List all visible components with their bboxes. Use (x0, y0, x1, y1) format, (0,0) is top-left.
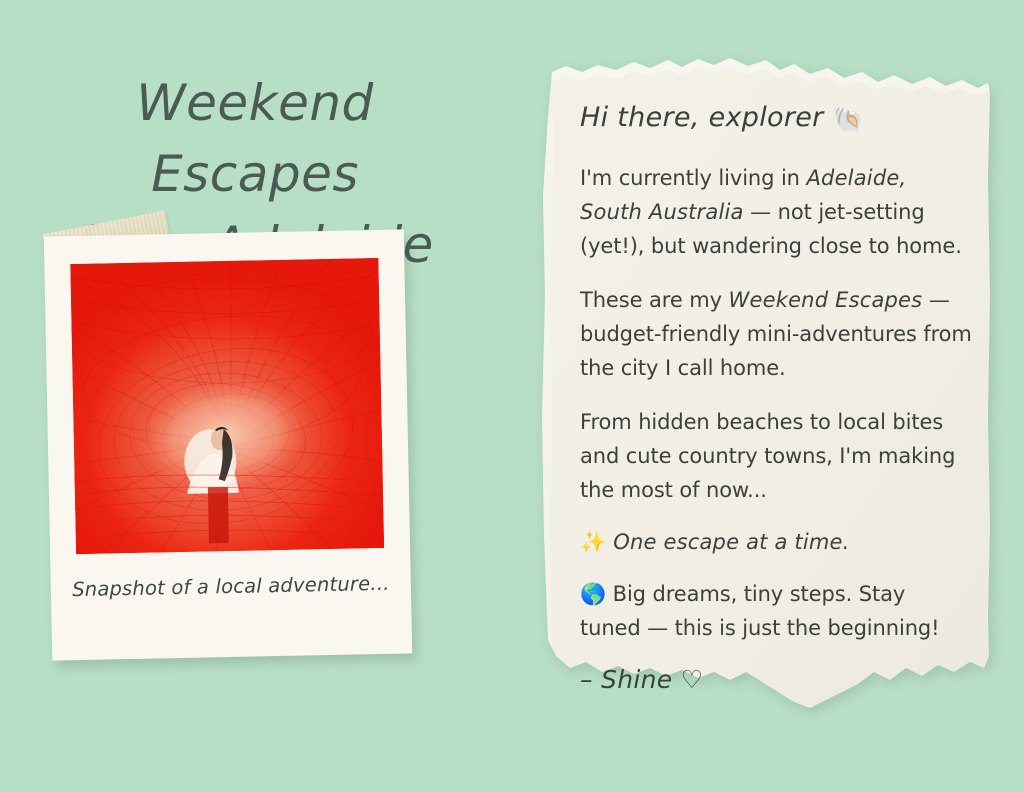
note-content: Hi there, explorer 🐚 I'm currently livin… (580, 102, 972, 694)
globe-icon: 🌎 (580, 582, 606, 606)
note-text-plain: From hidden beaches to local bites and c… (580, 410, 955, 502)
note-paragraph-intro: I'm currently living in Adelaide, South … (580, 161, 972, 263)
note-closing-text: Big dreams, tiny steps. Stay tuned — thi… (580, 582, 939, 640)
note-greeting-text: Hi there, explorer (580, 102, 824, 133)
left-column: Weekend Escapes from Adelaide (0, 0, 510, 791)
note-closing: 🌎 Big dreams, tiny steps. Stay tuned — t… (580, 577, 972, 645)
note-tagline-text: One escape at a time. (613, 530, 849, 554)
note-tagline: ✨ One escape at a time. (580, 525, 972, 559)
note-greeting: Hi there, explorer 🐚 (580, 102, 972, 135)
note-paragraph-what-these-are: These are my Weekend Escapes — budget-fr… (580, 283, 972, 385)
note-text-plain: These are my (580, 288, 729, 312)
note-paragraph-what-i-cover: From hidden beaches to local bites and c… (580, 405, 972, 507)
note-text-plain: I'm currently living in (580, 166, 806, 190)
polaroid-caption: Snapshot of a local adventure... (51, 571, 411, 601)
polaroid-photo (70, 258, 384, 554)
sparkles-icon: ✨ (580, 530, 606, 554)
polaroid-card: Snapshot of a local adventure... (44, 229, 412, 660)
note-text-script: Weekend Escapes (729, 288, 923, 312)
page-root: Weekend Escapes from Adelaide (0, 0, 1024, 791)
note-signature: – Shine ♡ (580, 665, 972, 694)
torn-note-card: Hi there, explorer 🐚 I'm currently livin… (522, 56, 994, 736)
shell-icon: 🐚 (832, 105, 863, 134)
